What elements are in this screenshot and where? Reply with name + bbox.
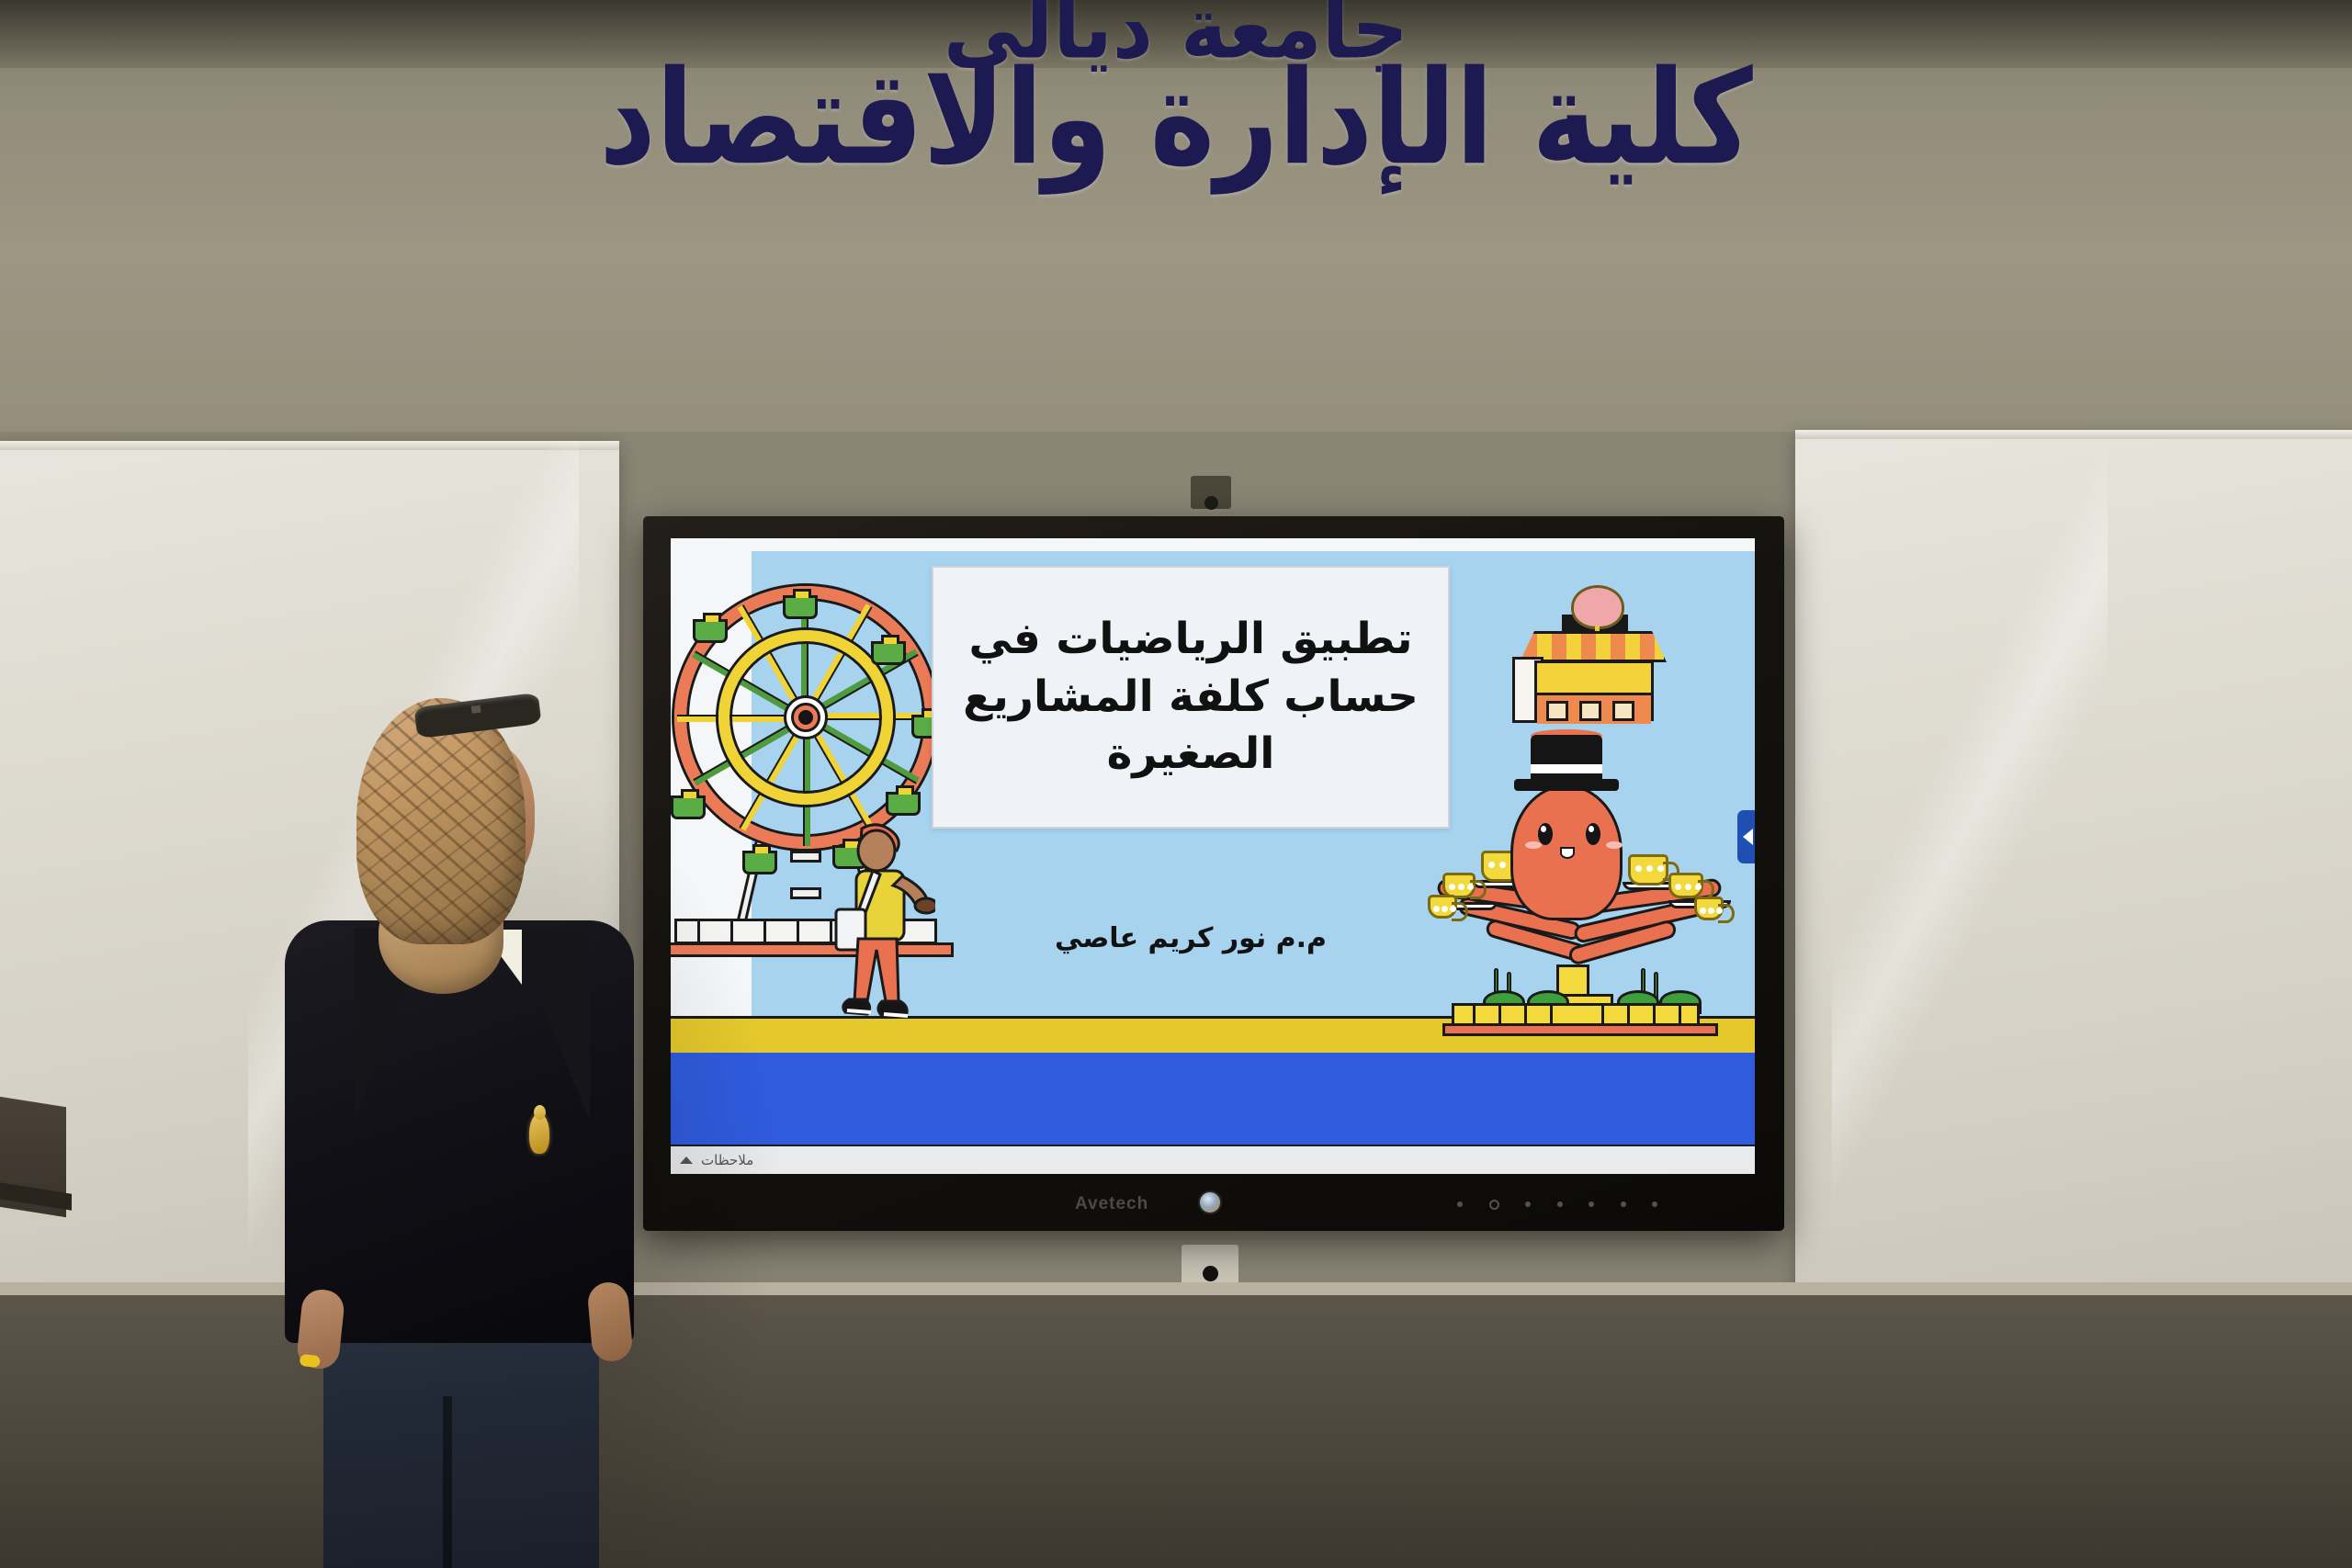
key-power[interactable] — [1489, 1200, 1499, 1210]
chevron-left-icon — [1743, 829, 1753, 845]
octopus-top-hat — [1531, 735, 1602, 784]
key-up[interactable] — [1557, 1201, 1563, 1207]
ferris-hub-center — [798, 710, 813, 725]
presenter — [303, 698, 744, 1568]
ferris-support-band — [790, 887, 821, 899]
lecture-hall-photo: جامعة ديالى كلية الإدارة والاقتصاد — [0, 0, 2352, 1568]
slide-title: تطبيق الرياضيات في حساب كلفة المشاريع ال… — [933, 611, 1448, 784]
octopus-eye-right — [1586, 823, 1600, 845]
slide-title-card: تطبيق الرياضيات في حساب كلفة المشاريع ال… — [932, 566, 1450, 829]
slide-ground-blue — [671, 1053, 1755, 1145]
octopus-blush-right — [1606, 841, 1623, 849]
previous-slide-button[interactable] — [1737, 810, 1755, 863]
wall-upper — [0, 0, 2352, 459]
key-source[interactable] — [1525, 1201, 1531, 1207]
teacup — [1628, 854, 1668, 886]
ferris-cabin — [886, 792, 921, 816]
mount-bolt-bottom — [1203, 1266, 1218, 1281]
booth-shelf — [1537, 693, 1651, 724]
mount-bolt-top — [1204, 496, 1218, 510]
octopus-teacup-ride-illustration — [1442, 728, 1718, 1031]
ferris-cabin — [871, 641, 906, 665]
whiteboard-right — [1795, 430, 2352, 1293]
presenter-hand-right — [586, 1280, 633, 1363]
powerpoint-slide[interactable]: تطبيق الرياضيات في حساب كلفة المشاريع ال… — [671, 538, 1755, 1174]
ferris-support-band — [790, 851, 821, 863]
octopus-eye-left — [1538, 823, 1553, 845]
whiteboard-right-glare — [1832, 430, 2108, 1293]
octopus-mouth — [1560, 847, 1575, 859]
gold-brooch — [529, 1113, 549, 1154]
power-button[interactable] — [1198, 1190, 1222, 1214]
teacup — [1428, 895, 1457, 919]
octopus-hat-brim — [1514, 779, 1619, 791]
interactive-flat-panel-display[interactable]: تطبيق الرياضيات في حساب كلفة المشاريع ال… — [643, 516, 1784, 1231]
octopus-blush-left — [1525, 841, 1542, 849]
teacup — [1694, 897, 1724, 920]
display-control-keys[interactable] — [1457, 1200, 1657, 1209]
walking-visitor-illustration — [825, 821, 935, 1051]
key-down[interactable] — [1589, 1201, 1594, 1207]
ferris-cabin — [693, 619, 728, 643]
slide-author: م.م نور كريم عاصي — [952, 922, 1430, 954]
booth-body — [1534, 660, 1654, 721]
ceiling-shadow — [0, 0, 2352, 68]
whiteboard-left-frame — [0, 441, 619, 450]
display-brand-logo: Avetech — [1075, 1194, 1148, 1214]
cotton-candy-icon — [1571, 585, 1624, 629]
key-plus[interactable] — [1652, 1201, 1657, 1207]
cotton-candy-booth-illustration — [1514, 589, 1672, 727]
key-minus[interactable] — [1621, 1201, 1626, 1207]
teacup — [1668, 873, 1703, 898]
octopus-hat-band — [1531, 764, 1602, 773]
display-screen[interactable]: تطبيق الرياضيات في حساب كلفة المشاريع ال… — [671, 538, 1755, 1174]
nail-polish — [300, 1354, 321, 1368]
whiteboard-right-frame — [1795, 430, 2352, 439]
key-menu[interactable] — [1457, 1201, 1463, 1207]
powerpoint-notes-bar[interactable]: ملاحظات — [671, 1146, 1755, 1174]
ride-deck — [1442, 1023, 1718, 1036]
presenter-jeans-seam — [443, 1396, 452, 1568]
ferris-cabin — [783, 595, 818, 619]
